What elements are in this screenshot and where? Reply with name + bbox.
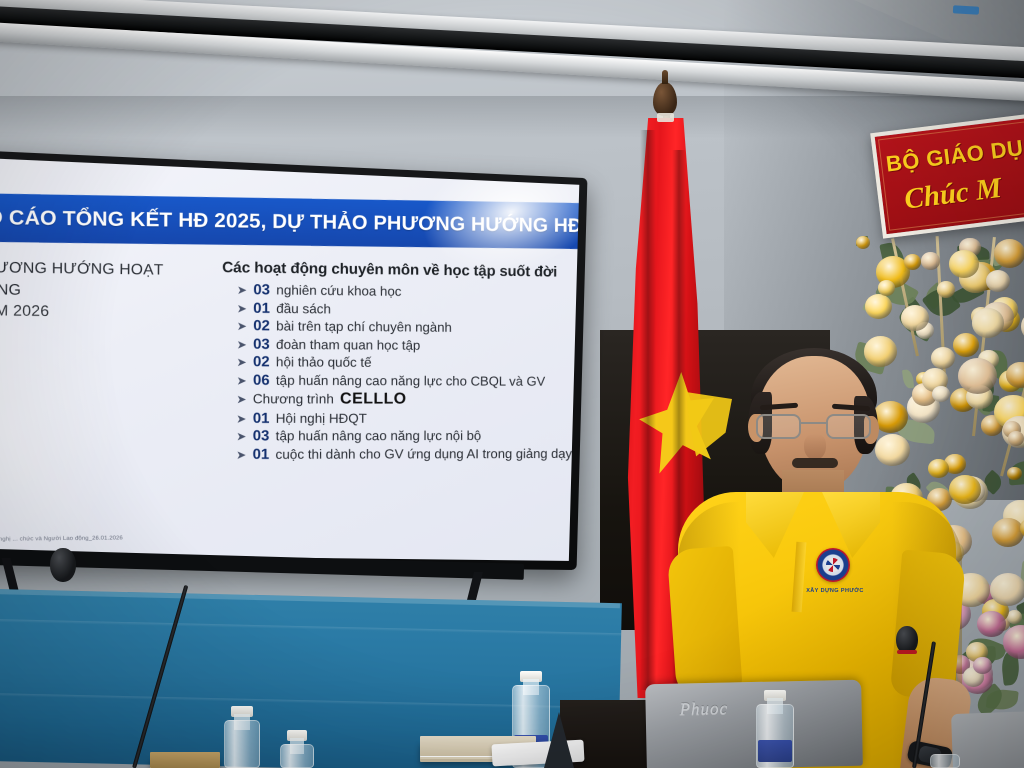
water-bottle — [224, 706, 260, 768]
bottle-body — [280, 744, 314, 768]
sleeve-left — [667, 546, 743, 700]
rose-bloom — [990, 573, 1024, 606]
congratulation-banner: BỘ GIÁO DỤC V Chúc M — [870, 111, 1024, 238]
bullet-arrow-icon: ➤ — [236, 432, 246, 444]
photo-scene: BÁO CÁO TỔNG KẾT HĐ 2025, DỰ THẢO PHƯƠNG… — [0, 0, 1024, 768]
rose-bloom — [992, 518, 1024, 547]
rose-bloom — [994, 239, 1024, 268]
rose-bloom — [986, 270, 1010, 292]
microphone-ring — [897, 650, 917, 654]
roller-brand-badge — [953, 5, 979, 14]
rose-bloom — [972, 308, 1004, 338]
rose-bloom — [1007, 610, 1023, 624]
microphone-head — [50, 548, 76, 582]
bullet-arrow-icon: ➤ — [236, 414, 246, 426]
slide-bullet-item: ➤03đoàn tham quan học tập — [237, 336, 580, 355]
bullet-text: Hội nghị HĐQT — [276, 410, 367, 425]
bullet-arrow-icon: ➤ — [237, 286, 247, 298]
bullet-emphasis-text: CELLLO — [340, 390, 407, 408]
rose-bloom — [1008, 431, 1024, 446]
tv-bezel: BÁO CÁO TỔNG KẾT HĐ 2025, DỰ THẢO PHƯƠNG… — [0, 149, 587, 570]
bullet-text: bài trên tạp chí chuyên ngành — [276, 318, 452, 335]
slide-title: BÁO CÁO TỔNG KẾT HĐ 2025, DỰ THẢO PHƯƠNG… — [0, 205, 579, 238]
bullet-text: đoàn tham quan học tập — [276, 336, 420, 352]
bottle-label — [758, 740, 792, 762]
bullet-text: tập huấn nâng cao năng lực nội bộ — [276, 428, 482, 443]
bullet-text: tập huấn nâng cao năng lực cho CBQL và G… — [276, 372, 545, 388]
shirt-logo-text: XÂY DỰNG PHƯỚC — [800, 588, 870, 594]
rose-bloom — [949, 250, 979, 278]
slide-bullet-item: ➤03nghiên cứu khoa học — [237, 282, 579, 302]
slide-bullet-item: ➤Chương trìnhCELLLO — [236, 390, 579, 409]
laptop-lid[interactable]: Phuoc — [645, 680, 863, 768]
bottle-body — [930, 754, 960, 768]
bullet-text: đầu sách — [276, 300, 331, 316]
laptop-engraving-text: Phuoc — [679, 699, 728, 720]
flag-tie — [657, 113, 674, 122]
slide-left-heading: PHƯƠNG HƯỚNG HOẠT ĐỘNG NĂM 2026 — [0, 257, 211, 324]
slide-left-heading-line2: NĂM 2026 — [0, 301, 211, 325]
slide-bullet-item: ➤01Hội nghị HĐQT — [236, 410, 579, 426]
water-bottle — [280, 730, 314, 768]
bullet-text: cuộc thi dành cho GV ứng dụng AI trong g… — [276, 445, 572, 461]
second-laptop[interactable] — [951, 710, 1024, 768]
flag-pole-finial — [653, 82, 677, 116]
slide-body: PHƯƠNG HƯỚNG HOẠT ĐỘNG NĂM 2026 Các hoạt… — [0, 230, 577, 554]
slide-bullet-item: ➤06tập huấn nâng cao năng lực cho CBQL v… — [236, 372, 579, 390]
rose-bloom — [865, 294, 892, 319]
rose-bloom — [977, 611, 1006, 637]
water-bottle — [930, 740, 960, 768]
bullet-text: hội thảo quốc tế — [276, 354, 372, 370]
slide-bullet-item: ➤02bài trên tạp chí chuyên ngành — [237, 318, 580, 337]
bullet-text: nghiên cứu khoa học — [276, 282, 401, 299]
bullet-arrow-icon: ➤ — [237, 322, 247, 334]
presentation-tv: BÁO CÁO TỔNG KẾT HĐ 2025, DỰ THẢO PHƯƠNG… — [0, 149, 587, 570]
bullet-arrow-icon: ➤ — [236, 395, 246, 407]
rose-bloom — [921, 252, 940, 270]
rose-bloom — [1007, 467, 1022, 481]
bullet-number: 01 — [253, 410, 270, 426]
glasses-bridge — [801, 422, 827, 424]
bullet-arrow-icon: ➤ — [236, 376, 246, 388]
slide-bullet-item: ➤01đầu sách — [237, 300, 580, 320]
slide-bullet-item: ➤03tập huấn nâng cao năng lực nội bộ — [236, 428, 579, 445]
bullet-arrow-icon: ➤ — [236, 358, 246, 370]
lens-right — [826, 414, 871, 439]
nose — [804, 434, 826, 460]
bullet-number: 03 — [253, 428, 270, 444]
slide-left-heading-line1: PHƯƠNG HƯỚNG HOẠT ĐỘNG — [0, 257, 211, 303]
bullet-number: 01 — [253, 300, 270, 317]
slide-bullet-item: ➤02hội thảo quốc tế — [236, 354, 579, 372]
tv-screen: BÁO CÁO TỔNG KẾT HĐ 2025, DỰ THẢO PHƯƠNG… — [0, 157, 579, 561]
water-bottle — [756, 690, 794, 768]
bullet-number: 02 — [253, 318, 270, 335]
cloth-fold-1 — [0, 619, 621, 637]
rose-bloom — [901, 305, 929, 331]
shirt-emblem-icon — [816, 548, 850, 582]
rose-bloom — [856, 236, 870, 249]
slide-bullet-list: ➤03nghiên cứu khoa học➤01đầu sách➤02bài … — [221, 281, 579, 462]
rose-bloom — [904, 254, 921, 270]
lens-left — [756, 414, 801, 439]
slide-bullet-item: ➤01cuộc thi dành cho GV ứng dụng AI tron… — [236, 445, 579, 462]
bullet-arrow-icon: ➤ — [236, 450, 246, 462]
bullet-number: 06 — [253, 372, 270, 389]
table-item — [150, 752, 220, 768]
bullet-arrow-icon: ➤ — [237, 304, 247, 316]
bullet-number: 03 — [253, 336, 270, 353]
slide-section-heading: Các hoạt động chuyên môn về học tập suốt… — [222, 260, 579, 281]
bottle-body — [224, 720, 260, 768]
bullet-text: Chương trình — [253, 391, 334, 407]
moustache — [792, 458, 838, 468]
slide-content-column: Các hoạt động chuyên môn về học tập suốt… — [221, 260, 579, 464]
bullet-number: 01 — [253, 446, 270, 463]
bullet-number: 02 — [253, 354, 270, 371]
bullet-arrow-icon: ➤ — [237, 340, 247, 352]
bullet-number: 03 — [253, 282, 270, 299]
